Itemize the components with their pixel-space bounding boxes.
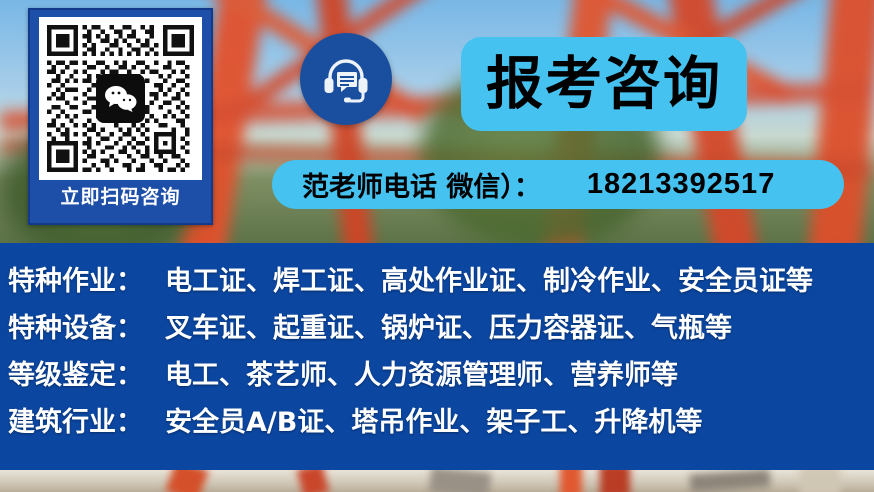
contact-label: 范老师电话 微信）：: [302, 165, 541, 204]
wechat-icon: [96, 74, 145, 123]
category-label: 特种作业：: [8, 259, 143, 298]
bottom-photo-strip: [0, 470, 874, 492]
category-label: 特种设备：: [8, 306, 143, 345]
qr-caption: 立即扫码咨询: [60, 188, 180, 207]
category-row-special-operations: 特种作业： 电工证、焊工证、高处作业证、制冷作业、安全员证等: [0, 255, 874, 302]
contact-phone-number[interactable]: 18213392517: [587, 168, 775, 201]
promo-poster: 立即扫码咨询 报考咨询 范老师电话 微信）： 18213392517 特种作业：…: [0, 0, 874, 492]
contact-phone-pill[interactable]: 范老师电话 微信）： 18213392517: [272, 160, 844, 209]
category-label: 等级鉴定：: [8, 353, 143, 392]
certificate-categories-panel: 特种作业： 电工证、焊工证、高处作业证、制冷作业、安全员证等 特种设备： 叉车证…: [0, 243, 874, 470]
category-row-grade-appraisal: 等级鉴定： 电工、茶艺师、人力资源管理师、营养师等: [0, 349, 874, 396]
consult-title-pill[interactable]: 报考咨询: [461, 37, 747, 131]
category-items: 电工、茶艺师、人力资源管理师、营养师等: [165, 353, 678, 392]
category-items: 电工证、焊工证、高处作业证、制冷作业、安全员证等: [165, 259, 813, 298]
consult-title-text: 报考咨询: [486, 56, 722, 113]
qr-code-image[interactable]: [39, 17, 202, 180]
category-items: 安全员A/B证、塔吊作业、架子工、升降机等: [165, 400, 702, 439]
category-label: 建筑行业：: [8, 400, 143, 439]
category-row-special-equipment: 特种设备： 叉车证、起重证、锅炉证、压力容器证、气瓶等: [0, 302, 874, 349]
category-row-construction-industry: 建筑行业： 安全员A/B证、塔吊作业、架子工、升降机等: [0, 396, 874, 443]
category-items: 叉车证、起重证、锅炉证、压力容器证、气瓶等: [165, 306, 732, 345]
headset-support-icon: [300, 33, 392, 125]
qr-code-card[interactable]: 立即扫码咨询: [28, 8, 213, 225]
